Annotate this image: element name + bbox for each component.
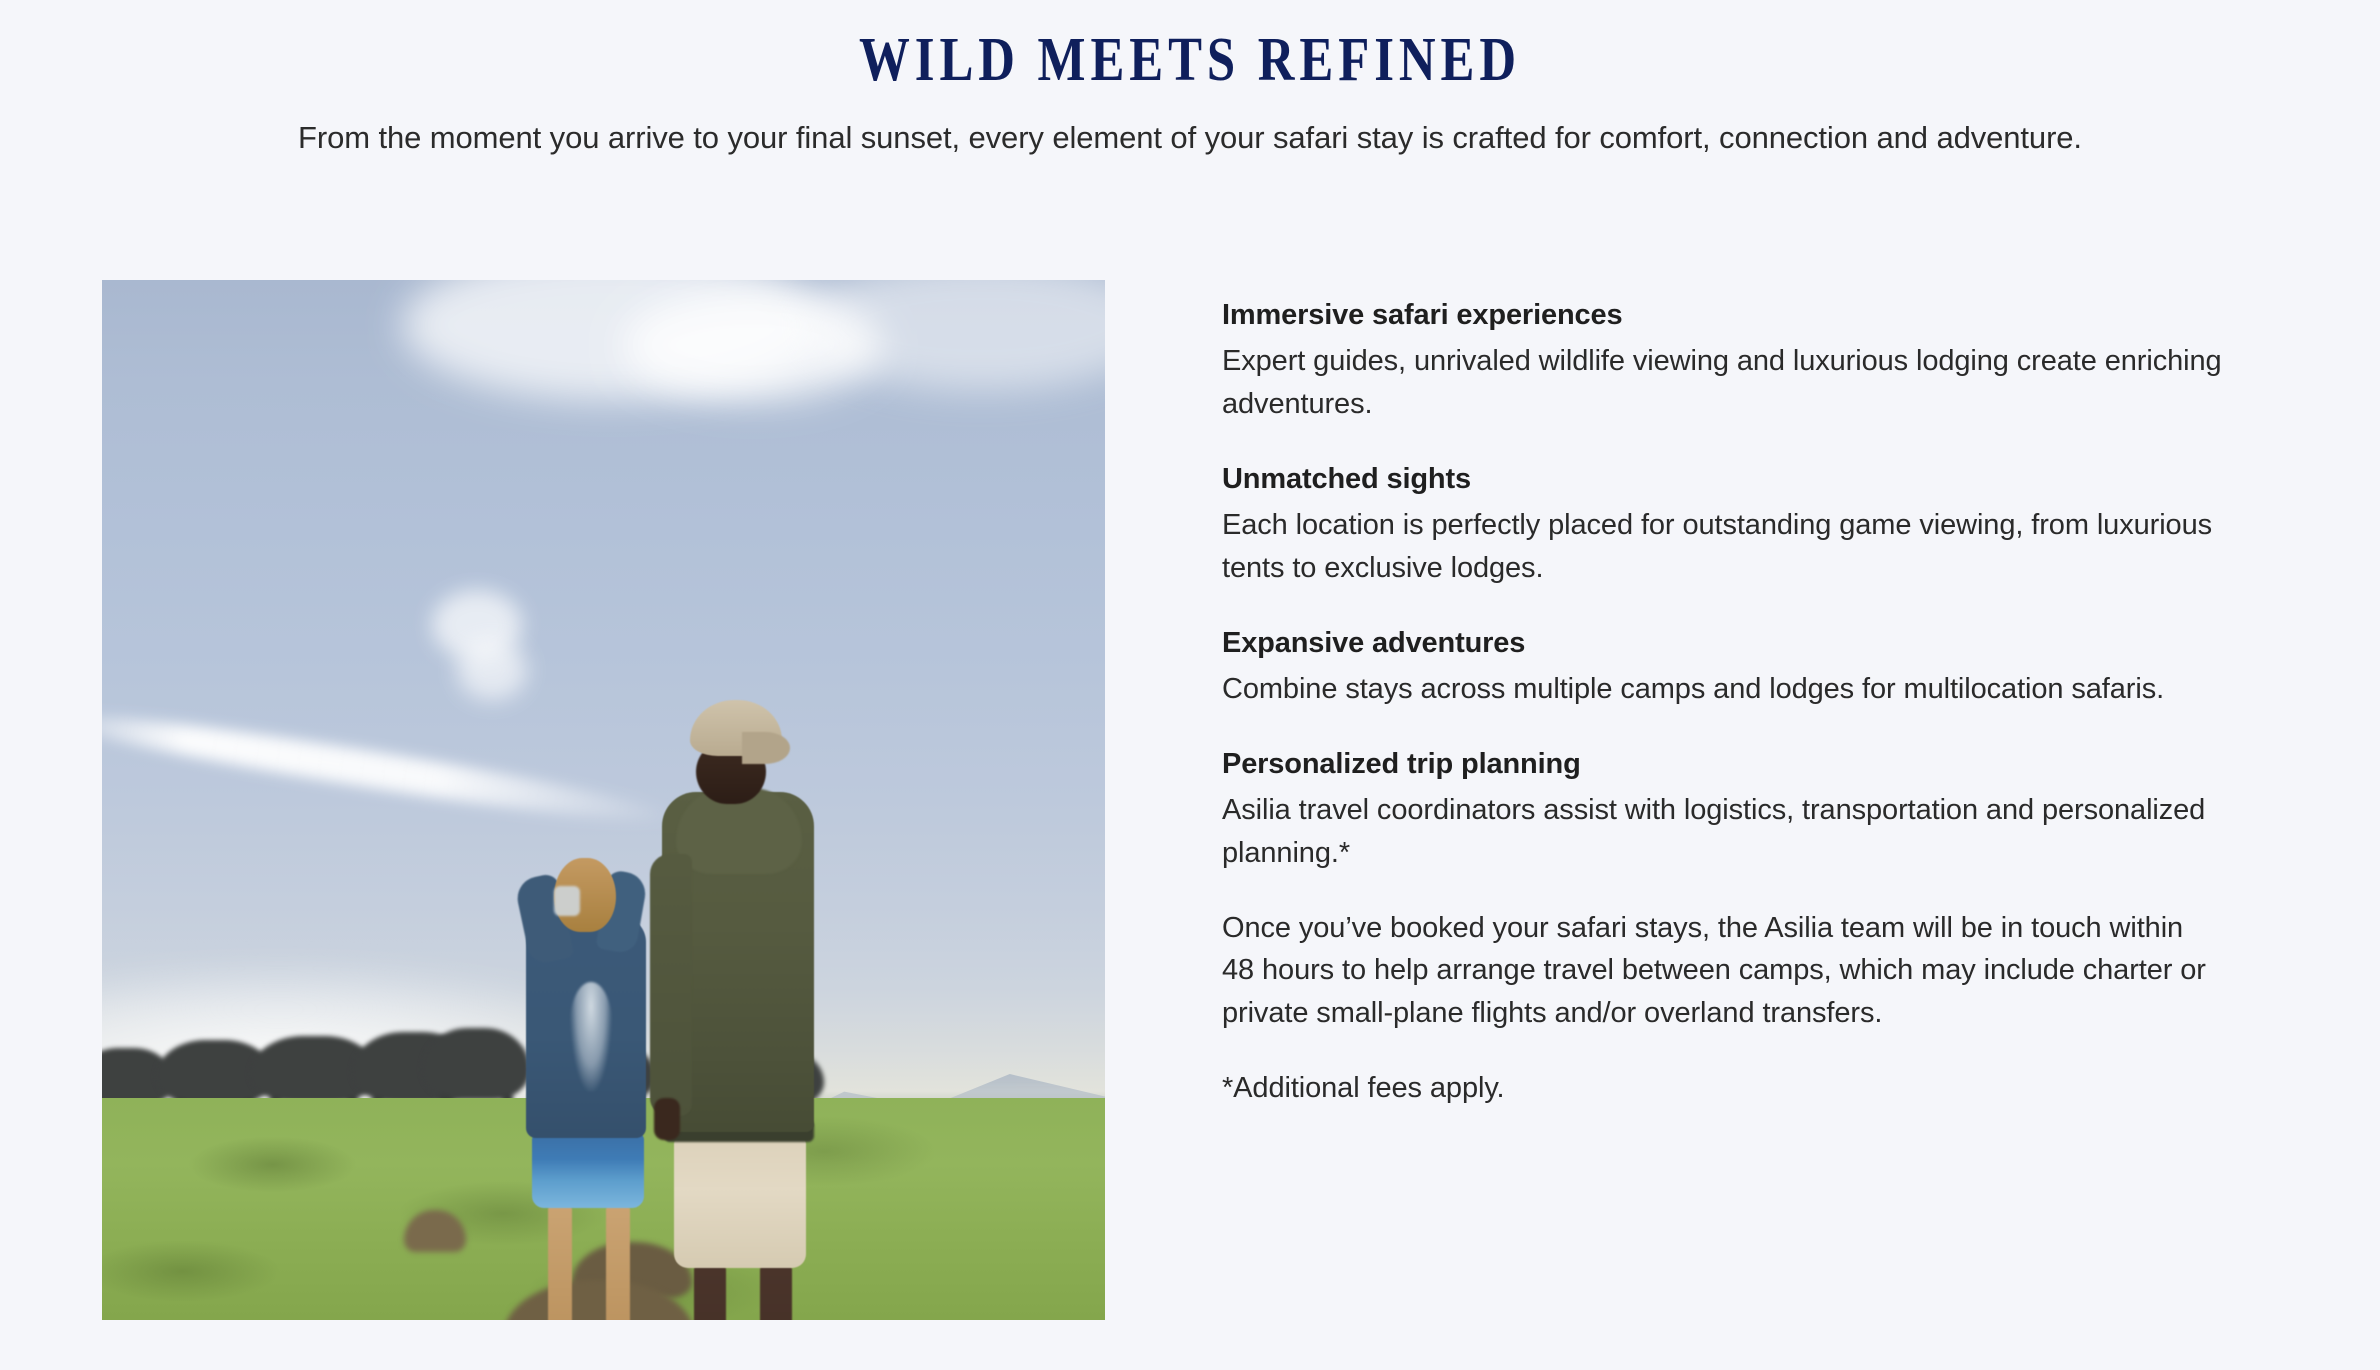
booking-note: Once you’ve booked your safari stays, th…: [1222, 907, 2222, 1036]
guide-arm: [650, 854, 692, 1116]
cap-brim: [742, 732, 790, 764]
feature-item: Unmatched sights Each location is perfec…: [1222, 458, 2222, 590]
feature-body: Expert guides, unrivaled wildlife viewin…: [1222, 340, 2222, 426]
feature-heading: Unmatched sights: [1222, 458, 2222, 500]
page-root: WILD MEETS REFINED From the moment you a…: [0, 0, 2380, 1370]
feature-item: Personalized trip planning Asilia travel…: [1222, 743, 2222, 875]
feature-list: Immersive safari experiences Expert guid…: [1222, 294, 2222, 1110]
feature-heading: Personalized trip planning: [1222, 743, 2222, 785]
fees-footnote: *Additional fees apply.: [1222, 1067, 2222, 1110]
guide-shorts: [674, 1136, 806, 1268]
boy-leg: [548, 1204, 572, 1320]
boy-shorts: [532, 1132, 644, 1208]
feature-item: Immersive safari experiences Expert guid…: [1222, 294, 2222, 426]
guide-leg: [760, 1262, 792, 1320]
page-subtitle: From the moment you arrive to your final…: [0, 93, 2380, 159]
feature-body: Each location is perfectly placed for ou…: [1222, 504, 2222, 590]
contrail-streak: [102, 700, 681, 836]
cloud-icon: [457, 640, 527, 700]
buffalo-icon: [422, 1028, 530, 1100]
feature-heading: Immersive safari experiences: [1222, 294, 2222, 336]
feature-heading: Expansive adventures: [1222, 622, 2222, 664]
section-content: Immersive safari experiences Expert guid…: [0, 280, 2380, 1340]
boy-leg: [606, 1204, 630, 1320]
guide-leg: [694, 1262, 726, 1320]
section-header: WILD MEETS REFINED From the moment you a…: [0, 0, 2380, 159]
safari-photo: [102, 280, 1105, 1320]
guide-hand: [654, 1098, 680, 1140]
binoculars-icon: [554, 886, 580, 916]
feature-body: Combine stays across multiple camps and …: [1222, 668, 2222, 711]
feature-body: Asilia travel coordinators assist with l…: [1222, 789, 2222, 875]
feature-item: Expansive adventures Combine stays acros…: [1222, 622, 2222, 711]
photo-sky-and-ground: [102, 280, 1105, 1320]
page-title: WILD MEETS REFINED: [214, 0, 2166, 93]
